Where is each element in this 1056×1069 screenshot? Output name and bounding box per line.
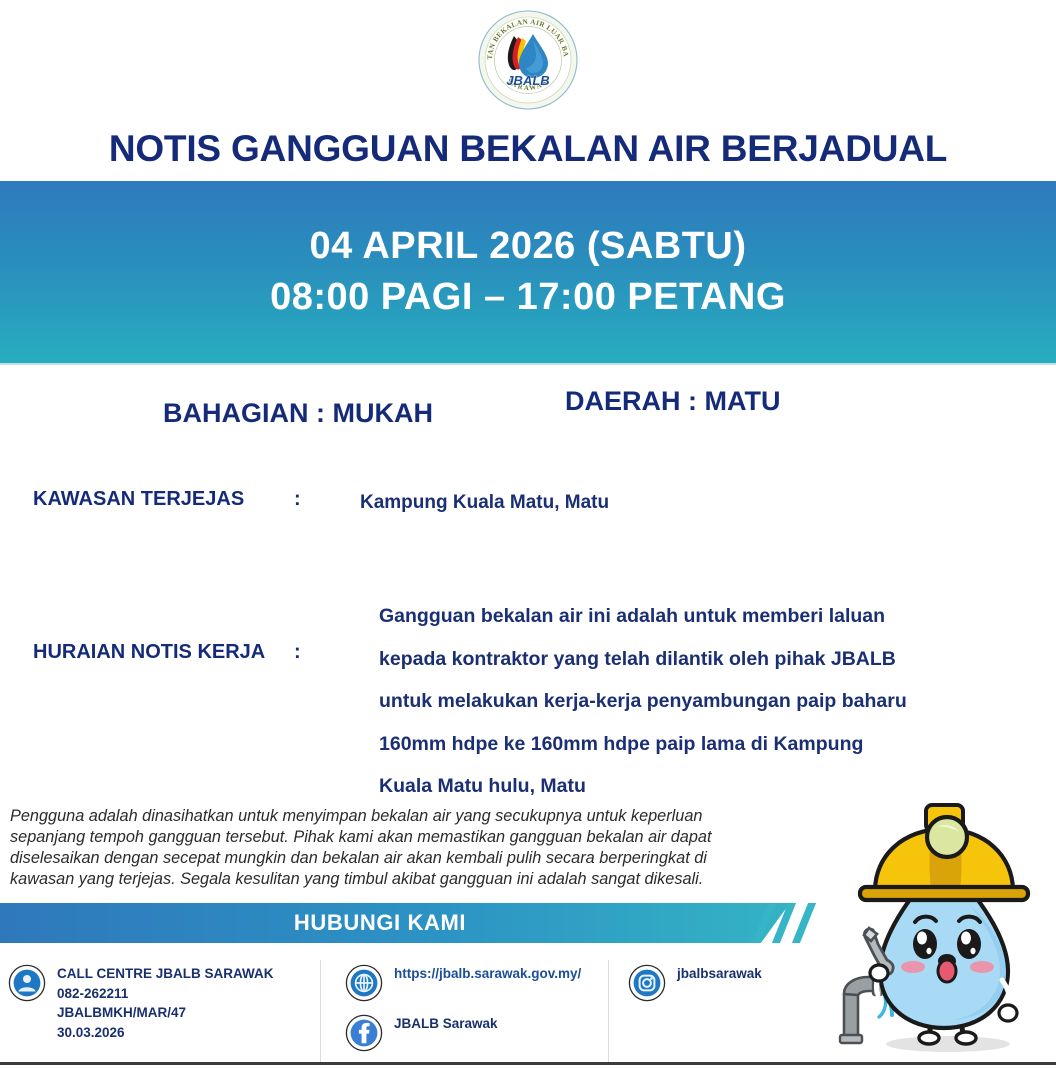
svg-text:JBALB: JBALB	[506, 73, 549, 88]
huraian-notis-kerja-label: HURAIAN NOTIS KERJA	[33, 641, 265, 664]
contact-banner-label: HUBUNGI KAMI	[0, 903, 760, 943]
notice-page: JABATAN BEKALAN AIR LUAR BANDAR SARAWAK …	[0, 0, 1056, 1069]
notice-date: 30.03.2026	[57, 1025, 125, 1040]
instagram-icon	[628, 964, 666, 1002]
huraian-notis-kerja-colon: :	[294, 641, 301, 664]
person-icon	[8, 964, 46, 1002]
call-centre-phone: 082-262211	[57, 986, 128, 1001]
footer-facebook[interactable]: JBALB Sarawak	[345, 1014, 498, 1052]
facebook-icon	[345, 1014, 383, 1052]
kawasan-terjejas-value: Kampung Kuala Matu, Matu	[360, 492, 609, 514]
diagonal-stripes-decoration	[752, 903, 820, 943]
footer-instagram[interactable]: jbalbsarawak	[628, 964, 762, 1002]
contact-banner: HUBUNGI KAMI	[0, 903, 820, 943]
huraian-line: 160mm hdpe ke 160mm hdpe paip lama di Ka…	[379, 723, 999, 766]
instagram-handle[interactable]: jbalbsarawak	[677, 964, 762, 984]
globe-icon	[345, 964, 383, 1002]
page-title: NOTIS GANGGUAN BEKALAN AIR BERJADUAL	[0, 128, 1056, 170]
facebook-handle[interactable]: JBALB Sarawak	[394, 1014, 498, 1034]
schedule-banner: 04 APRIL 2026 (SABTU) 08:00 PAGI – 17:00…	[0, 181, 1056, 365]
call-centre-title: CALL CENTRE JBALB SARAWAK	[57, 966, 274, 981]
division-row: BAHAGIAN : MUKAH DAERAH : MATU	[0, 398, 1056, 436]
footer-call-centre: CALL CENTRE JBALB SARAWAK 082-262211 JBA…	[8, 964, 274, 1042]
huraian-notis-kerja-value: Gangguan bekalan air ini adalah untuk me…	[379, 595, 999, 808]
logo-container: JABATAN BEKALAN AIR LUAR BANDAR SARAWAK …	[0, 6, 1056, 114]
huraian-line: Gangguan bekalan air ini adalah untuk me…	[379, 595, 999, 638]
website-url[interactable]: https://jbalb.sarawak.gov.my/	[394, 964, 581, 984]
banner-date: 04 APRIL 2026 (SABTU)	[309, 221, 746, 272]
bahagian-label: BAHAGIAN : MUKAH	[163, 398, 433, 429]
footer-website[interactable]: https://jbalb.sarawak.gov.my/	[345, 964, 581, 1002]
kawasan-terjejas-colon: :	[294, 488, 301, 511]
call-centre-text: CALL CENTRE JBALB SARAWAK 082-262211 JBA…	[57, 964, 274, 1042]
water-droplet-plumber-mascot	[830, 795, 1056, 1067]
kawasan-terjejas-label: KAWASAN TERJEJAS	[33, 488, 244, 511]
banner-time: 08:00 PAGI – 17:00 PETANG	[270, 272, 786, 323]
huraian-line: kepada kontraktor yang telah dilantik ol…	[379, 638, 999, 681]
disclaimer-text: Pengguna adalah dinasihatkan untuk menyi…	[10, 806, 772, 889]
footer-divider	[608, 960, 609, 1064]
notice-reference: JBALBMKH/MAR/47	[57, 1005, 186, 1020]
daerah-label: DAERAH : MATU	[565, 386, 780, 417]
huraian-line: untuk melakukan kerja-kerja penyambungan…	[379, 680, 999, 723]
footer-divider	[320, 960, 321, 1064]
jbalb-logo-icon: JABATAN BEKALAN AIR LUAR BANDAR SARAWAK …	[478, 10, 578, 110]
